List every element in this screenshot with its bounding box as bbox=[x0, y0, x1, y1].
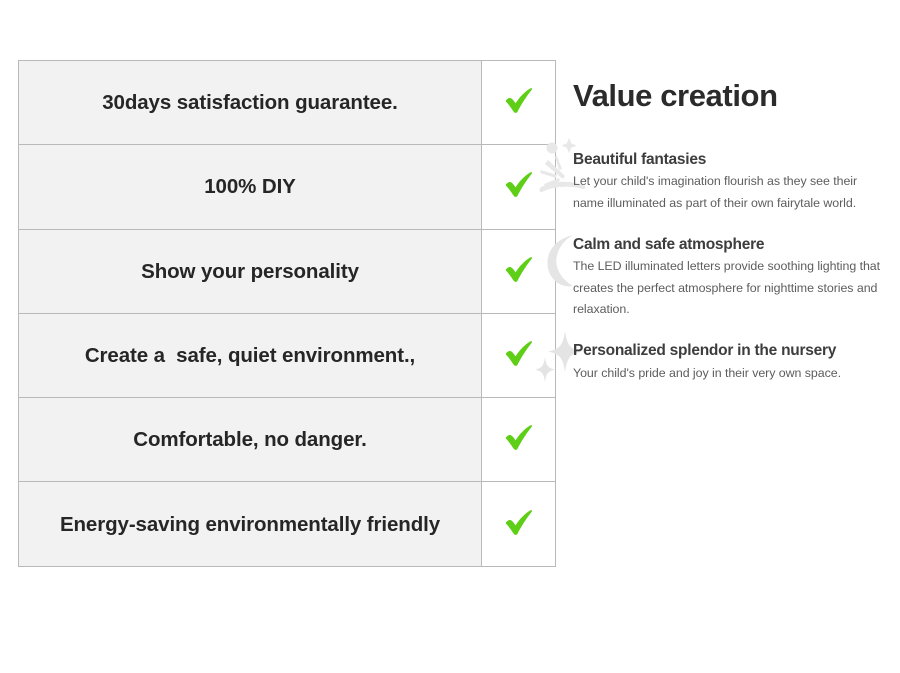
feature-label: Create a safe, quiet environment., bbox=[33, 342, 467, 369]
feature-label: 100% DIY bbox=[33, 173, 467, 200]
feature-label-cell: Comfortable, no danger. bbox=[19, 398, 482, 482]
feature-label: Comfortable, no danger. bbox=[33, 426, 467, 453]
feature-label-cell: Create a safe, quiet environment., bbox=[19, 313, 482, 397]
check-icon bbox=[503, 339, 535, 367]
table-row: 100% DIY bbox=[19, 145, 556, 229]
feature-label-cell: 100% DIY bbox=[19, 145, 482, 229]
feature-label: 30days satisfaction guarantee. bbox=[33, 89, 467, 116]
value-item-body: The LED illuminated letters provide soot… bbox=[573, 256, 890, 320]
check-icon bbox=[503, 255, 535, 283]
table-row: Energy-saving environmentally friendly bbox=[19, 482, 556, 566]
feature-label-cell: Show your personality bbox=[19, 229, 482, 313]
feature-check-cell bbox=[482, 482, 556, 566]
check-icon bbox=[503, 86, 535, 114]
value-item-heading: Personalized splendor in the nursery bbox=[573, 341, 890, 360]
feature-label-cell: Energy-saving environmentally friendly bbox=[19, 482, 482, 566]
page-title: Value creation bbox=[573, 80, 778, 111]
table-row: Show your personality bbox=[19, 229, 556, 313]
value-creation-panel: Value creation bbox=[540, 60, 890, 420]
list-item: Personalized splendor in the nursery You… bbox=[540, 341, 890, 384]
check-icon bbox=[503, 170, 535, 198]
feature-label-cell: 30days satisfaction guarantee. bbox=[19, 61, 482, 145]
value-item-body: Your child's pride and joy in their very… bbox=[573, 363, 890, 384]
value-item-heading: Beautiful fantasies bbox=[573, 150, 890, 169]
value-items-list: Beautiful fantasies Let your child's ima… bbox=[540, 150, 890, 405]
list-item: Calm and safe atmosphere The LED illumin… bbox=[540, 235, 890, 320]
table-row: Create a safe, quiet environment., bbox=[19, 313, 556, 397]
table-row: Comfortable, no danger. bbox=[19, 398, 556, 482]
product-feature-page: 30days satisfaction guarantee. 100% DIY bbox=[0, 0, 900, 673]
table-row: 30days satisfaction guarantee. bbox=[19, 61, 556, 145]
check-icon bbox=[503, 508, 535, 536]
value-item-heading: Calm and safe atmosphere bbox=[573, 235, 890, 254]
list-item: Beautiful fantasies Let your child's ima… bbox=[540, 150, 890, 214]
feature-label: Show your personality bbox=[33, 258, 467, 285]
check-icon bbox=[503, 423, 535, 451]
feature-benefits-table: 30days satisfaction guarantee. 100% DIY bbox=[18, 60, 556, 567]
value-item-body: Let your child's imagination flourish as… bbox=[573, 171, 890, 214]
feature-label: Energy-saving environmentally friendly bbox=[33, 511, 467, 538]
